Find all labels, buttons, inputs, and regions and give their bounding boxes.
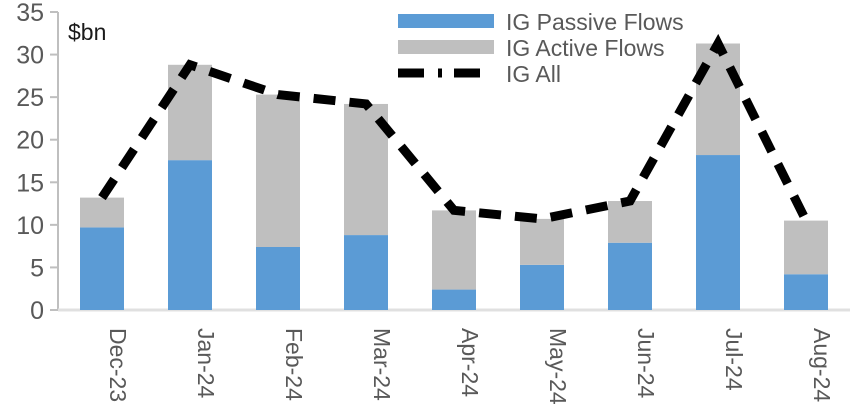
legend-swatch <box>398 14 494 28</box>
bar-segment <box>168 65 212 160</box>
x-axis-label: Dec-23 <box>105 328 131 402</box>
y-axis: 05101520253035 <box>16 0 58 325</box>
x-axis-label: Jul-24 <box>721 328 747 391</box>
y-axis-tick-label: 20 <box>16 127 44 155</box>
unit-label: $bn <box>68 19 106 45</box>
bar-segment <box>432 210 476 289</box>
legend-label: IG Passive Flows <box>506 9 684 35</box>
bar-segment <box>520 219 564 265</box>
x-axis-labels: Dec-23Jan-24Feb-24Mar-24Apr-24May-24Jun-… <box>105 328 835 405</box>
bar-segment <box>80 227 124 310</box>
y-axis-tick-label: 35 <box>16 0 44 27</box>
x-axis-label: Jun-24 <box>633 328 659 399</box>
legend-label: IG Active Flows <box>506 35 664 61</box>
bar-segment <box>784 221 828 275</box>
x-axis-label: Jan-24 <box>193 328 219 399</box>
chart-container: 05101520253035$bnDec-23Jan-24Feb-24Mar-2… <box>0 0 852 417</box>
bar-segment <box>696 44 740 156</box>
bar-segment <box>80 198 124 228</box>
y-axis-tick-label: 5 <box>30 254 44 282</box>
y-axis-tick-label: 30 <box>16 42 44 70</box>
bar-segment <box>256 95 300 247</box>
legend-item[interactable]: IG All <box>398 61 561 87</box>
bar-segment <box>256 247 300 310</box>
legend: IG Passive FlowsIG Active FlowsIG All <box>398 9 684 87</box>
bar-segment <box>608 201 652 243</box>
bar-segment <box>344 235 388 310</box>
flows-chart: 05101520253035$bnDec-23Jan-24Feb-24Mar-2… <box>0 0 852 417</box>
bars-group <box>80 44 828 310</box>
y-axis-tick-label: 10 <box>16 212 44 240</box>
x-axis-label: May-24 <box>545 328 571 405</box>
bar-segment <box>520 265 564 310</box>
x-axis-label: Feb-24 <box>281 328 307 401</box>
y-axis-tick-label: 15 <box>16 169 44 197</box>
legend-swatch <box>398 40 494 54</box>
legend-label: IG All <box>506 61 561 87</box>
bar-segment <box>784 274 828 310</box>
bar-segment <box>696 155 740 310</box>
bar-segment <box>168 160 212 310</box>
bar-segment <box>608 243 652 310</box>
bar-segment <box>432 290 476 310</box>
legend-item[interactable]: IG Active Flows <box>398 35 664 61</box>
x-axis-label: Apr-24 <box>457 328 483 397</box>
legend-item[interactable]: IG Passive Flows <box>398 9 684 35</box>
x-axis-label: Mar-24 <box>369 328 395 401</box>
y-axis-tick-label: 25 <box>16 84 44 112</box>
x-axis-label: Aug-24 <box>809 328 835 402</box>
y-axis-tick-label: 0 <box>30 297 44 325</box>
